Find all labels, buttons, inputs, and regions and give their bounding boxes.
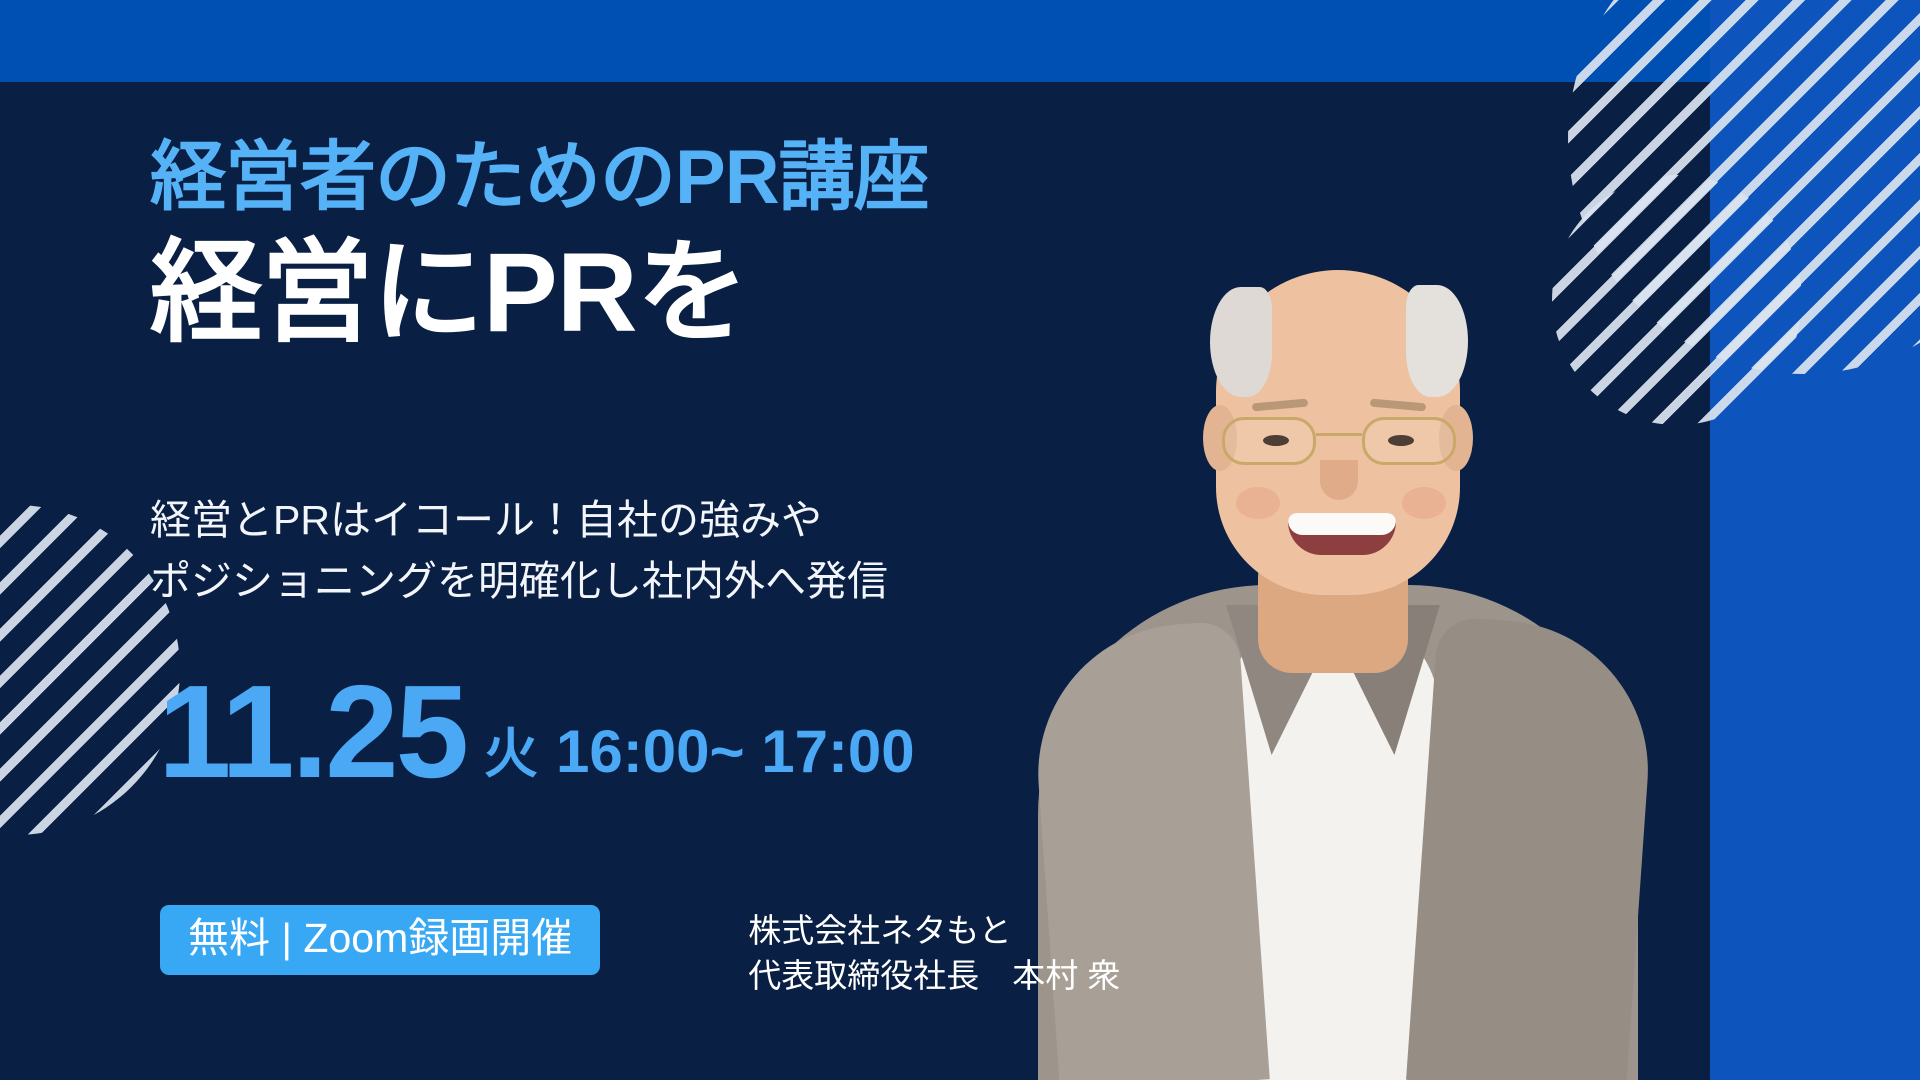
description-text: 経営とPRはイコール！自社の強みや ポジショニングを明確化し社内外へ発信 <box>150 490 888 611</box>
speaker-company: 株式会社ネタもと <box>748 909 1120 954</box>
hair-right <box>1406 285 1468 397</box>
teeth <box>1288 513 1396 535</box>
webinar-promo-banner: 経営者のためのPR講座 経営にPRを 経営とPRはイコール！自社の強みや ポジシ… <box>0 0 1920 1080</box>
event-date: 11.25 <box>158 675 466 789</box>
event-date-row: 11.25 火 16:00~ 17:00 <box>158 675 915 789</box>
nose <box>1320 460 1358 500</box>
jacket-lapel-right <box>1406 616 1658 1080</box>
footer-row: 無料 | Zoom録画開催 株式会社ネタもと 代表取締役社長 本村 衆 <box>160 905 1120 999</box>
content-column: 経営者のためのPR講座 経営にPRを 経営とPRはイコール！自社の強みや ポジシ… <box>150 0 1170 1080</box>
main-headline: 経営にPRを <box>150 230 748 355</box>
speaker-title-name: 代表取締役社長 本村 衆 <box>748 954 1120 999</box>
hair-left <box>1210 287 1272 397</box>
speaker-credit: 株式会社ネタもと 代表取締役社長 本村 衆 <box>748 905 1120 999</box>
price-format-badge[interactable]: 無料 | Zoom録画開催 <box>160 905 600 975</box>
cheek-left <box>1236 487 1280 519</box>
event-day-of-week: 火 <box>484 727 538 789</box>
lens-left <box>1222 417 1316 465</box>
cheek-right <box>1402 487 1446 519</box>
lens-right <box>1362 417 1456 465</box>
description-line-2: ポジショニングを明確化し社内外へ発信 <box>150 551 888 612</box>
description-line-1: 経営とPRはイコール！自社の強みや <box>150 490 888 551</box>
glasses-bridge <box>1316 433 1362 436</box>
event-time-range: 16:00~ 17:00 <box>556 722 915 789</box>
mouth <box>1288 513 1396 555</box>
eyebrow-title: 経営者のためのPR講座 <box>150 140 929 216</box>
